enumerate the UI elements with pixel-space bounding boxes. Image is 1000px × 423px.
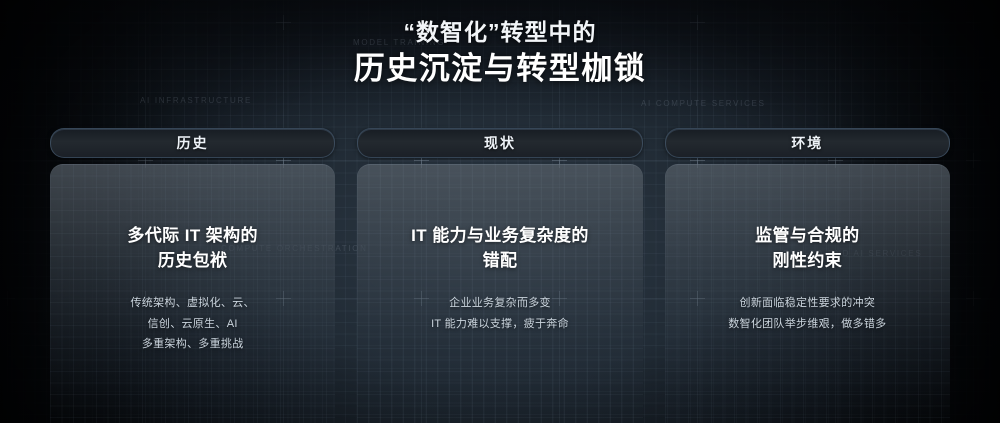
pillar-card: 环境监管与合规的 刚性约束创新面临稳定性要求的冲突 数智化团队举步维艰，做多错多 <box>665 128 950 423</box>
card-tab-label: 历史 <box>177 133 209 153</box>
card-tab-label: 环境 <box>791 133 823 153</box>
card-tab-1[interactable]: 历史 <box>50 128 335 158</box>
card-tab-2[interactable]: 现状 <box>357 128 642 158</box>
card-description: 传统架构、虚拟化、云、 信创、云原生、AI 多重架构、多重挑战 <box>62 293 323 354</box>
card-tab-label: 现状 <box>484 133 516 153</box>
pillar-card: 历史多代际 IT 架构的 历史包袱传统架构、虚拟化、云、 信创、云原生、AI 多… <box>50 128 335 423</box>
card-content: IT 能力与业务复杂度的 错配企业业务复杂而多变 IT 能力难以支撑，疲于奔命 <box>369 224 630 334</box>
slide-header: “数智化”转型中的 历史沉淀与转型枷锁 <box>0 18 1000 89</box>
card-body: IT 能力与业务复杂度的 错配企业业务复杂而多变 IT 能力难以支撑，疲于奔命 <box>357 164 642 423</box>
card-description: 创新面临稳定性要求的冲突 数智化团队举步维艰，做多错多 <box>677 293 938 334</box>
card-content: 多代际 IT 架构的 历史包袱传统架构、虚拟化、云、 信创、云原生、AI 多重架… <box>62 224 323 354</box>
card-description: 企业业务复杂而多变 IT 能力难以支撑，疲于奔命 <box>369 293 630 334</box>
cards-row: 历史多代际 IT 架构的 历史包袱传统架构、虚拟化、云、 信创、云原生、AI 多… <box>50 128 950 423</box>
card-heading: 监管与合规的 刚性约束 <box>677 224 938 273</box>
title-line-1: “数智化”转型中的 <box>0 18 1000 47</box>
card-heading: IT 能力与业务复杂度的 错配 <box>369 224 630 273</box>
card-body: 监管与合规的 刚性约束创新面临稳定性要求的冲突 数智化团队举步维艰，做多错多 <box>665 164 950 423</box>
card-content: 监管与合规的 刚性约束创新面临稳定性要求的冲突 数智化团队举步维艰，做多错多 <box>677 224 938 334</box>
title-line-2: 历史沉淀与转型枷锁 <box>0 49 1000 89</box>
card-body: 多代际 IT 架构的 历史包袱传统架构、虚拟化、云、 信创、云原生、AI 多重架… <box>50 164 335 423</box>
card-tab-3[interactable]: 环境 <box>665 128 950 158</box>
card-heading: 多代际 IT 架构的 历史包袱 <box>62 224 323 273</box>
slide-canvas: MODEL TRAININGAI INFRASTRUCTUREAI COMPUT… <box>0 0 1000 423</box>
pillar-card: 现状IT 能力与业务复杂度的 错配企业业务复杂而多变 IT 能力难以支撑，疲于奔… <box>357 128 642 423</box>
